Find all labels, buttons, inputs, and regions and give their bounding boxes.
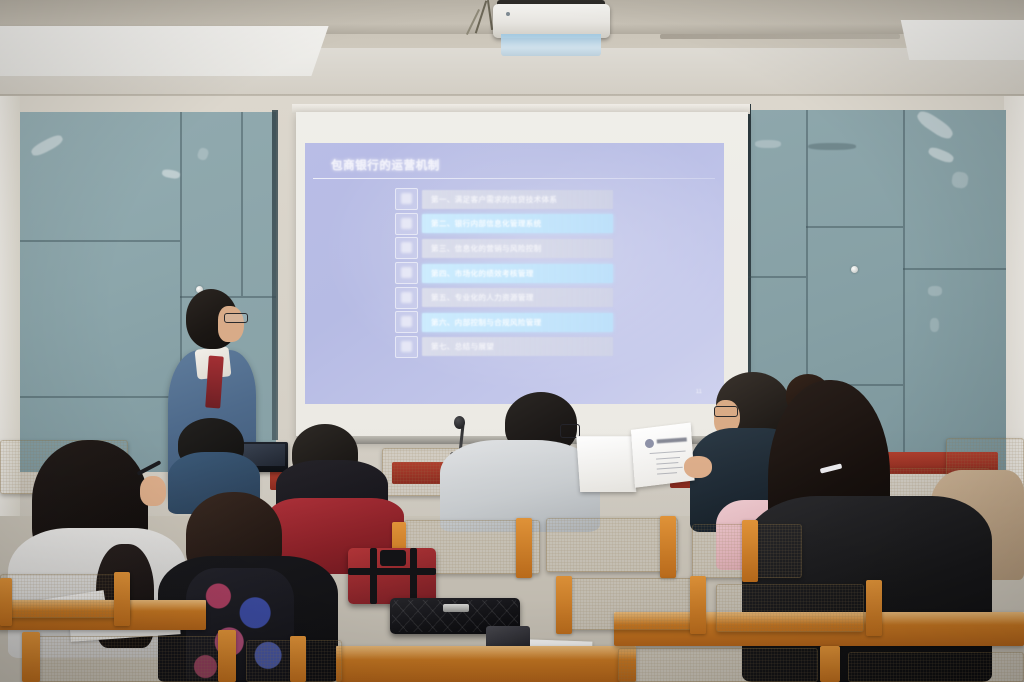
- slide-bullet-bar: 第五、专业化的人力资源管理: [422, 288, 613, 307]
- seat-support-post: [820, 646, 840, 682]
- open-booklet-with-logo: [576, 424, 696, 494]
- ceiling-light-slot: [660, 34, 900, 39]
- seat-support-post: [218, 630, 236, 682]
- panel-seam: [20, 396, 180, 398]
- eyeglasses-icon: [714, 406, 738, 417]
- slide-bullet-label: 第六、内部控制与合规风险管理: [431, 317, 542, 328]
- seat-support-post: [742, 520, 758, 582]
- seat-back: [618, 648, 818, 682]
- seat-support-post: [290, 636, 306, 682]
- seat-support-post: [516, 518, 532, 578]
- recessed-ceiling-light-left: [0, 26, 329, 76]
- seat-support-post: [22, 632, 40, 682]
- seat-support-post: [866, 580, 882, 636]
- slide-bullet-bar: 第六、内部控制与合规风险管理: [422, 313, 613, 332]
- slide-bullet-row: 第一、满足客户需求的信贷技术体系: [395, 187, 613, 212]
- slide-bullet-label: 第七、总结与展望: [431, 341, 494, 352]
- slide-bullet-row: 第七、总结与展望: [395, 335, 613, 360]
- panel-seam: [903, 268, 1006, 270]
- slide-title: 包商银行的运营机制: [331, 157, 440, 173]
- wall-scuff: [930, 318, 939, 332]
- booklet-left-page: [576, 436, 636, 492]
- booklet-right-page: [631, 423, 695, 488]
- slide-bullet-row: 第六、内部控制与合规风险管理: [395, 310, 613, 335]
- slide-page-number: 11: [696, 389, 702, 395]
- projected-slide: 包商银行的运营机制 第一、满足客户需求的信贷技术体系第二、银行内部信息化管理系统…: [305, 143, 724, 404]
- eyeglasses-icon: [224, 313, 248, 323]
- slide-bullet-bar: 第三、信息化的营销与风险控制: [422, 239, 613, 258]
- slide-bullet-bar: 第七、总结与展望: [422, 337, 613, 356]
- slide-bullet-label: 第一、满足客户需求的信贷技术体系: [431, 194, 557, 205]
- recessed-ceiling-light-right: [901, 20, 1024, 60]
- slide-bullet-icon: [395, 262, 418, 284]
- hand: [684, 456, 712, 478]
- red-black-structured-handbag: [348, 548, 436, 604]
- presenter-face: [218, 306, 244, 342]
- panel-seam: [806, 226, 903, 228]
- slide-bullet-row: 第四、市场化的绩效考核管理: [395, 261, 613, 286]
- clutch-clasp-icon: [443, 604, 469, 612]
- projector-lens-glow: [501, 34, 601, 56]
- slide-bullet-icon: [395, 188, 418, 210]
- slide-bullet-row: 第五、专业化的人力资源管理: [395, 285, 613, 310]
- panel-seam: [903, 110, 905, 472]
- slide-bullet-icon: [395, 213, 418, 235]
- lecture-hall-photo: 包商银行的运营机制 第一、满足客户需求的信贷技术体系第二、银行内部信息化管理系统…: [0, 0, 1024, 682]
- slide-bullet-icon: [395, 336, 418, 358]
- wall-scuff: [808, 143, 856, 150]
- slide-bullet-bar: 第四、市场化的绩效考核管理: [422, 264, 613, 283]
- slide-bullet-label: 第五、专业化的人力资源管理: [431, 292, 534, 303]
- seat-support-post: [660, 516, 676, 578]
- seat-back: [36, 636, 226, 682]
- slide-title-rule: [313, 178, 715, 179]
- slide-bullet-label: 第四、市场化的绩效考核管理: [431, 268, 534, 279]
- microphone-icon: [454, 416, 465, 429]
- seat-support-post: [556, 576, 572, 634]
- panel-seam: [20, 240, 180, 242]
- projector-icon: [493, 4, 610, 38]
- slide-bullet-list: 第一、满足客户需求的信贷技术体系第二、银行内部信息化管理系统第三、信息化的营销与…: [395, 187, 613, 359]
- lecture-desk: [336, 646, 636, 682]
- panel-seam: [748, 276, 806, 278]
- seat-back: [568, 578, 692, 630]
- wall-scuff: [928, 286, 942, 296]
- seat-back: [546, 518, 678, 572]
- seat-support-post: [114, 572, 130, 626]
- seat-back: [716, 584, 864, 632]
- slide-bullet-icon: [395, 287, 418, 309]
- slide-bullet-icon: [395, 311, 418, 333]
- slide-bullet-row: 第三、信息化的营销与风险控制: [395, 236, 613, 261]
- wall-panel-gap-left: [272, 110, 278, 440]
- hand: [140, 476, 166, 506]
- panel-seam: [241, 112, 243, 296]
- slide-bullet-label: 第二、银行内部信息化管理系统: [431, 218, 542, 229]
- slide-bullet-row: 第二、银行内部信息化管理系统: [395, 212, 613, 237]
- panel-screw-icon: [851, 266, 858, 273]
- seat-back: [0, 574, 130, 618]
- seat-support-post: [0, 578, 12, 626]
- slide-bullet-label: 第三、信息化的营销与风险控制: [431, 243, 542, 254]
- slide-bullet-icon: [395, 237, 418, 259]
- projector-indicator-icon: [506, 12, 510, 16]
- slide-bullet-bar: 第一、满足客户需求的信贷技术体系: [422, 190, 613, 209]
- wall-scuff: [755, 140, 781, 148]
- seat-support-post: [690, 576, 706, 634]
- seat-back: [848, 652, 1024, 682]
- slide-bullet-bar: 第二、银行内部信息化管理系统: [422, 214, 613, 233]
